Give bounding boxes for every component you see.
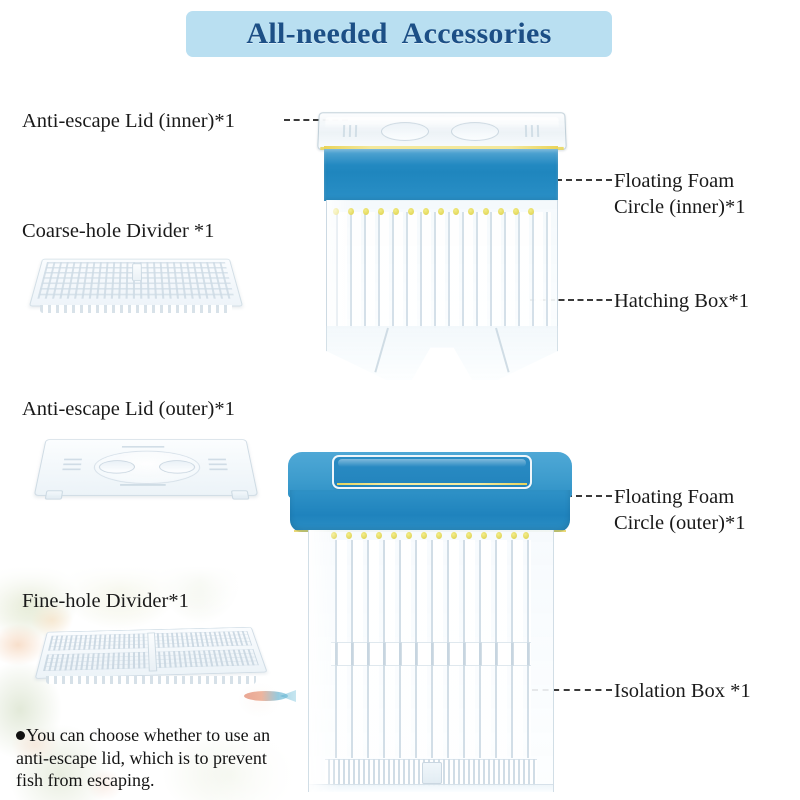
rib-dots-row (333, 208, 551, 216)
label-floating-foam-circle-outer-line1: Floating Foam (614, 484, 734, 510)
bullet-icon (16, 731, 25, 740)
title-banner: All-needed Accessories (186, 11, 612, 57)
note-line-3: fish from escaping. (16, 770, 154, 790)
anti-escape-lid-inner-part (317, 112, 567, 150)
isolation-box-opening (332, 455, 532, 489)
floating-foam-circle-inner-part (324, 149, 558, 201)
coarse-hole-divider-part (36, 250, 236, 312)
hatching-box-base (326, 326, 558, 380)
label-hatching-box: Hatching Box*1 (614, 288, 749, 314)
label-anti-escape-lid-outer: Anti-escape Lid (outer)*1 (22, 396, 235, 422)
label-coarse-hole-divider: Coarse-hole Divider *1 (22, 218, 214, 244)
label-floating-foam-circle-inner-line2: Circle (inner)*1 (614, 194, 746, 220)
isolation-box-product (288, 452, 572, 792)
hatching-box-product (322, 112, 560, 382)
anti-escape-lid-outer-part (40, 432, 252, 500)
label-floating-foam-circle-outer-line2: Circle (outer)*1 (614, 510, 746, 536)
label-anti-escape-lid-inner: Anti-escape Lid (inner)*1 (22, 108, 235, 134)
label-floating-foam-circle-inner-line1: Floating Foam (614, 168, 734, 194)
infographic-canvas: All-needed Accessories Anti-escape Lid (… (0, 0, 800, 800)
page-title: All-needed Accessories (186, 11, 612, 57)
note-line-2: anti-escape lid, which is to prevent (16, 748, 267, 768)
hatching-box-body (326, 200, 558, 328)
label-fine-hole-divider: Fine-hole Divider*1 (22, 588, 189, 614)
usage-note: You can choose whether to use an anti-es… (16, 724, 316, 792)
rib-dots-row (331, 532, 531, 540)
note-line-1: You can choose whether to use an (26, 725, 270, 745)
label-isolation-box: Isolation Box *1 (614, 678, 751, 704)
foam-rim-front-face (290, 490, 570, 532)
isolation-box-body (308, 530, 554, 792)
fine-hole-divider-part (42, 620, 260, 682)
